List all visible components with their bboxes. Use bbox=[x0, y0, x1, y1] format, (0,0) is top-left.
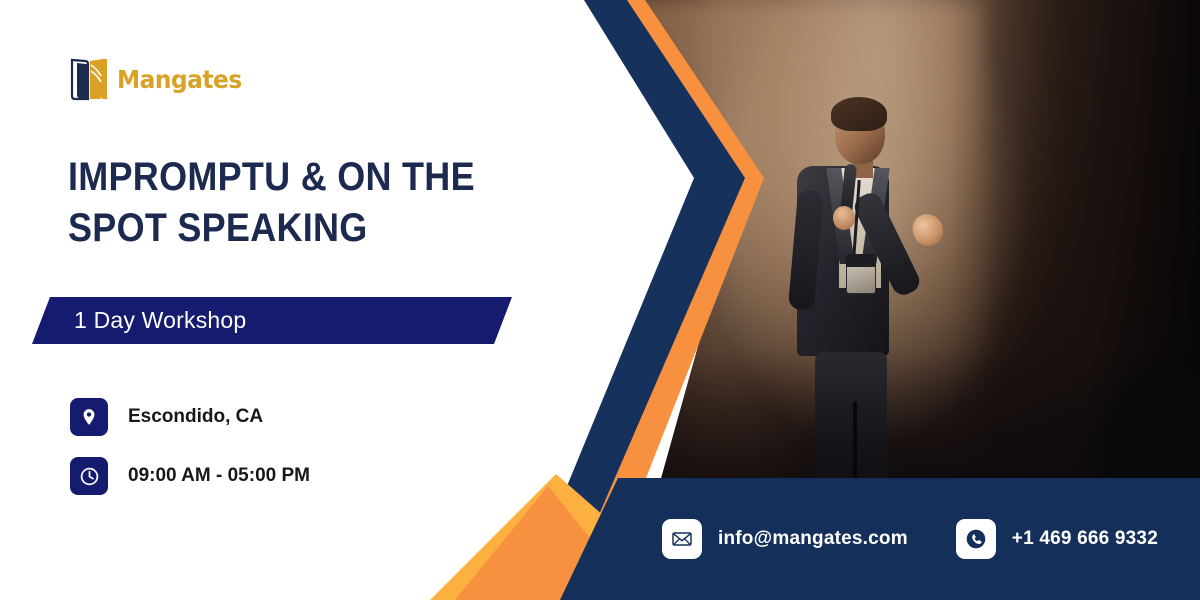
time-label: 09:00 AM - 05:00 PM bbox=[128, 465, 310, 487]
event-banner: Mangates IMPROMPTU & ON THE SPOT SPEAKIN… bbox=[0, 0, 1200, 600]
envelope-icon bbox=[662, 519, 702, 559]
email-contact[interactable]: info@mangates.com bbox=[662, 519, 908, 559]
speaker-hand-gesture bbox=[909, 210, 947, 249]
clock-icon bbox=[70, 457, 108, 495]
event-details: Escondido, CA 09:00 AM - 05:00 PM bbox=[70, 398, 310, 516]
phone-label: +1 469 666 9332 bbox=[1012, 528, 1158, 550]
speaker-hand-mic bbox=[833, 206, 855, 230]
map-pin-icon bbox=[70, 398, 108, 436]
open-book-icon bbox=[66, 54, 112, 104]
location-label: Escondido, CA bbox=[128, 406, 263, 428]
page-title: IMPROMPTU & ON THE SPOT SPEAKING bbox=[68, 152, 491, 254]
speaker-hair bbox=[831, 97, 887, 131]
email-label: info@mangates.com bbox=[718, 528, 908, 550]
speaker-badge-header bbox=[846, 254, 876, 267]
brand-logo[interactable]: Mangates bbox=[66, 54, 251, 104]
duration-badge: 1 Day Workshop bbox=[32, 297, 512, 344]
logo-wordmark: Mangates bbox=[117, 65, 242, 94]
title-line-2: SPOT SPEAKING bbox=[68, 203, 491, 254]
title-line-1: IMPROMPTU & ON THE bbox=[68, 152, 491, 203]
time-row: 09:00 AM - 05:00 PM bbox=[70, 457, 310, 495]
location-row: Escondido, CA bbox=[70, 398, 310, 436]
duration-badge-label: 1 Day Workshop bbox=[74, 307, 246, 334]
phone-contact[interactable]: +1 469 666 9332 bbox=[956, 519, 1158, 559]
phone-icon bbox=[956, 519, 996, 559]
